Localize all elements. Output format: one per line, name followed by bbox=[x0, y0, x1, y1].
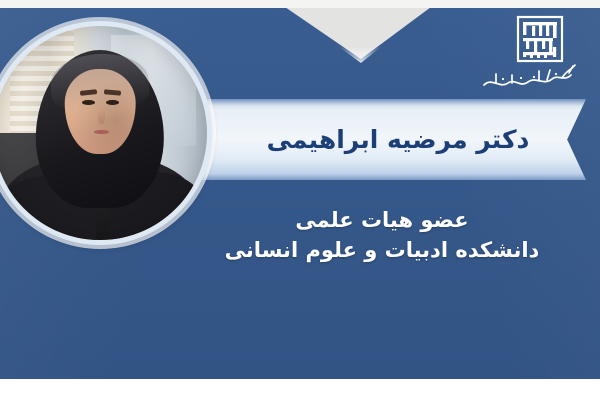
bottom-white-strip bbox=[0, 379, 600, 400]
photo-nose bbox=[98, 109, 104, 124]
announcement-card-canvas: دکتر مرضیه ابراهیمی bbox=[0, 0, 600, 400]
blue-background-card: دکتر مرضیه ابراهیمی bbox=[0, 7, 600, 379]
name-ribbon-banner: دکتر مرضیه ابراهیمی bbox=[176, 99, 586, 180]
top-white-sliver bbox=[0, 0, 600, 8]
person-name: دکتر مرضیه ابراهیمی bbox=[176, 99, 586, 180]
top-chevron-notch bbox=[285, 7, 431, 59]
person-role-line-2: دانشکده ادبیات و علوم انسانی bbox=[176, 235, 588, 266]
university-logo-icon[interactable] bbox=[476, 13, 588, 97]
photo-eye-right bbox=[106, 100, 119, 105]
photo-eye-left bbox=[82, 100, 95, 105]
person-role-line-1: عضو هیات علمی bbox=[176, 205, 588, 235]
person-role: عضو هیات علمی دانشکده ادبیات و علوم انسا… bbox=[176, 205, 588, 266]
